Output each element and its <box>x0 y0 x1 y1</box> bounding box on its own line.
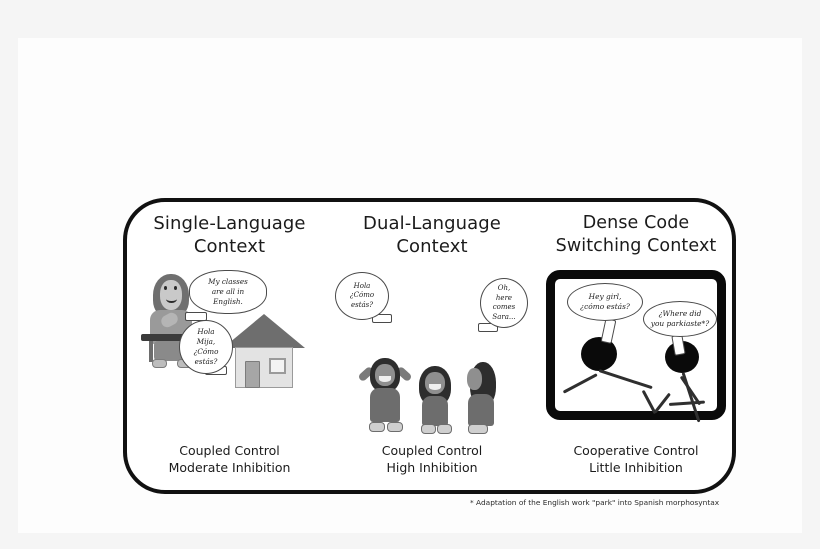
figure-stage: Single-Language Context <box>0 0 820 549</box>
panel-title-dual-language: Dual-Language Context <box>332 212 532 258</box>
panel-footer-single-language: Coupled Control Moderate Inhibition <box>127 442 332 476</box>
scene-dual-language: Hola ¿Cómo estás? Oh, here comes Sara... <box>332 268 532 438</box>
stick-right-speech-bubble: ¿Where did you parkiaste*? <box>643 301 717 337</box>
child-left-mouth <box>379 376 391 382</box>
school-speech-bubble: My classes are all in English. <box>189 270 267 314</box>
house-roof <box>223 314 305 348</box>
child-right-face <box>467 368 482 390</box>
child-right-body <box>468 394 494 426</box>
girl-shoe-left <box>152 359 167 368</box>
girl-eye-right <box>174 286 177 290</box>
panel-dense-code-switching: Dense Code Switching Context Hey girl, ¿… <box>532 202 740 490</box>
child-right-illustration <box>462 354 500 434</box>
desk-leg-left <box>149 340 153 362</box>
stick-left-spine <box>599 369 653 389</box>
panel-footer-dual-language: Coupled Control High Inhibition <box>332 442 532 476</box>
house-door <box>245 361 260 388</box>
code-switching-inner-frame: Hey girl, ¿cómo estás? ¿Where did you pa… <box>546 270 726 420</box>
figure-outer-frame: Single-Language Context <box>123 198 736 494</box>
child-middle-illustration <box>415 356 455 434</box>
girl-smile <box>166 295 177 303</box>
child-left-shoe-right <box>387 422 403 432</box>
kid-right-speech-bubble: Oh, here comes Sara... <box>480 278 528 328</box>
house-window <box>269 358 286 374</box>
girl-eye-left <box>164 286 167 290</box>
child-right-shoe <box>468 424 488 434</box>
panel-footer-dense-code-switching: Cooperative Control Little Inhibition <box>532 442 740 476</box>
stick-right-bubble-tail <box>671 334 685 356</box>
figure-footnote: * Adaptation of the English work "park" … <box>470 497 740 508</box>
panel-dual-language: Dual-Language Context <box>332 202 532 490</box>
child-middle-body <box>422 396 448 426</box>
stick-figure-right <box>649 341 721 425</box>
panel-title-dense-code-switching: Dense Code Switching Context <box>532 212 740 258</box>
home-speech-bubble: Hola Mija, ¿Cómo estás? <box>179 320 233 374</box>
child-left-shoe-left <box>369 422 385 432</box>
stick-right-leg-lower <box>669 400 705 406</box>
child-middle-face <box>425 372 445 394</box>
stick-figure-left <box>571 337 651 423</box>
kid-left-speech-bubble: Hola ¿Cómo estás? <box>335 272 389 320</box>
scene-dense-code-switching: Hey girl, ¿cómo estás? ¿Where did you pa… <box>532 268 740 438</box>
scene-single-language: My classes are all in English. Hola Mija… <box>127 268 332 438</box>
stick-left-speech-bubble: Hey girl, ¿cómo estás? <box>567 283 643 321</box>
house-illustration <box>223 314 305 388</box>
child-middle-shoe-left <box>421 424 436 434</box>
child-left-illustration <box>362 352 408 434</box>
child-left-face <box>375 364 395 386</box>
panel-single-language: Single-Language Context <box>127 202 332 490</box>
child-left-body <box>370 388 400 422</box>
figure-card: Single-Language Context <box>18 38 802 533</box>
child-middle-shoe-right <box>437 424 452 434</box>
child-middle-mouth <box>429 384 441 390</box>
panel-title-single-language: Single-Language Context <box>127 212 332 258</box>
stick-left-arm <box>563 373 598 393</box>
